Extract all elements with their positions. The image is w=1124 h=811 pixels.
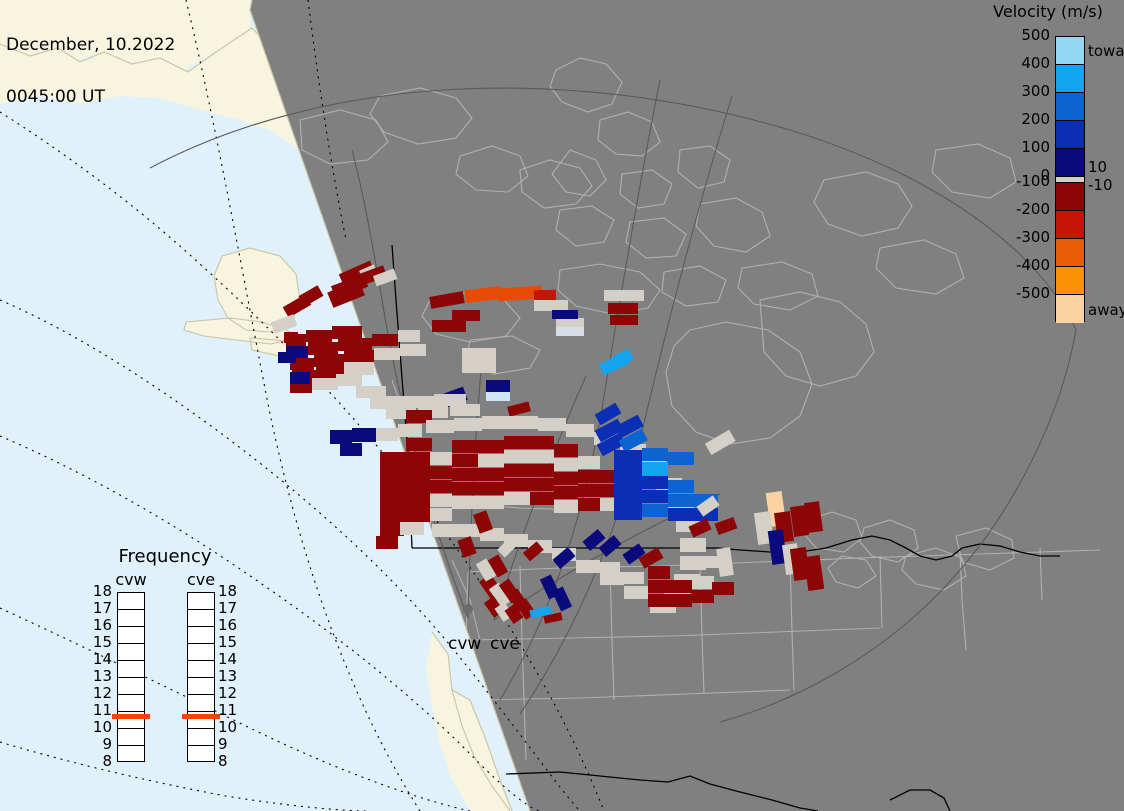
- colorbar-tick: -300: [1016, 230, 1050, 245]
- frequency-title: Frequency: [80, 546, 250, 567]
- frequency-scale-segment: [188, 678, 214, 695]
- frequency-scale-segment: [188, 627, 214, 644]
- colorbar-band: [1056, 295, 1084, 323]
- frequency-scale-segment: [188, 610, 214, 627]
- frequency-scale-segment: [118, 610, 144, 627]
- frequency-scale-segment: [118, 661, 144, 678]
- frequency-axis-tick: 18: [80, 584, 112, 599]
- map-label-cvw: cvw: [448, 634, 481, 654]
- colorbar-band: [1056, 37, 1084, 65]
- frequency-scale-segment: [118, 593, 144, 610]
- colorbar-tick-labels: 5004003002001000-100-200-300-400-500: [970, 0, 1050, 340]
- frequency-axis-tick: 15: [218, 635, 237, 650]
- frequency-axis-tick: 8: [218, 754, 228, 769]
- frequency-axis-tick: 16: [218, 618, 237, 633]
- frequency-scale-segment: [118, 695, 144, 712]
- colorbar-negative-threshold: -10: [1088, 178, 1113, 193]
- frequency-scale-segment: [188, 695, 214, 712]
- colorbar-band: [1056, 93, 1084, 121]
- colorbar-tick: -500: [1016, 286, 1050, 301]
- colorbar-band: [1056, 267, 1084, 295]
- colorbar-band: [1056, 121, 1084, 149]
- colorbar-tick: -400: [1016, 258, 1050, 273]
- frequency-axis-tick: 17: [80, 601, 112, 616]
- radar-site-marker: [463, 604, 473, 614]
- frequency-scale-segment: [188, 729, 214, 746]
- velocity-colorbar: Velocity (m/s) 5004003002001000-100-200-…: [970, 0, 1124, 340]
- frequency-scale-segment: [188, 593, 214, 610]
- frequency-axis-tick: 11: [80, 703, 112, 718]
- colorbar-tick: 200: [1021, 112, 1050, 127]
- frequency-scale-segment: [118, 644, 144, 661]
- frequency-bar-cve: [187, 592, 215, 762]
- frequency-axis-tick: 13: [80, 669, 112, 684]
- frequency-axis-tick: 18: [218, 584, 237, 599]
- map-label-cve: cve: [490, 634, 520, 654]
- colorbar-positive-threshold: 10: [1088, 160, 1107, 175]
- title-time: 0045:00 UT: [6, 89, 175, 106]
- radar-velocity-map: December, 10.2022 0045:00 UT cvw cve Vel…: [0, 0, 1124, 811]
- frequency-axis-tick: 12: [80, 686, 112, 701]
- frequency-axis-tick: 13: [218, 669, 237, 684]
- frequency-scale-segment: [188, 746, 214, 763]
- frequency-axis-tick: 16: [80, 618, 112, 633]
- colorbar-tick: -200: [1016, 202, 1050, 217]
- frequency-axis-tick: 14: [218, 652, 237, 667]
- frequency-scale-segment: [118, 678, 144, 695]
- colorbar-band: [1056, 239, 1084, 267]
- colorbar-band: [1056, 149, 1084, 177]
- frequency-axis-tick: 10: [218, 720, 237, 735]
- frequency-scale-segment: [118, 746, 144, 763]
- frequency-scale-segment: [118, 627, 144, 644]
- colorbar-toward-label: toward: [1088, 44, 1124, 59]
- frequency-axis-tick: 8: [80, 754, 112, 769]
- frequency-axis-tick: 9: [218, 737, 228, 752]
- frequency-axis-tick: 10: [80, 720, 112, 735]
- frequency-axis-tick: 14: [80, 652, 112, 667]
- frequency-legend: Frequency cvw cve 18171615141312111098 1…: [80, 546, 250, 786]
- colorbar-tick: 400: [1021, 56, 1050, 71]
- frequency-axis-tick: 15: [80, 635, 112, 650]
- frequency-axis-tick: 12: [218, 686, 237, 701]
- colorbar-band: [1056, 65, 1084, 93]
- colorbar-tick: 300: [1021, 84, 1050, 99]
- title-date: December, 10.2022: [6, 37, 175, 54]
- frequency-marker-cvw: [112, 714, 150, 719]
- frequency-scale-segment: [118, 729, 144, 746]
- colorbar-band: [1056, 183, 1084, 211]
- frequency-scale-segment: [188, 661, 214, 678]
- title-block: December, 10.2022 0045:00 UT: [6, 2, 175, 141]
- colorbar-away-label: away: [1088, 303, 1124, 318]
- frequency-scale-segment: [188, 644, 214, 661]
- colorbar-bands: [1055, 36, 1085, 322]
- frequency-bar-cvw: [117, 592, 145, 762]
- frequency-axis-tick: 9: [80, 737, 112, 752]
- frequency-axis-tick: 17: [218, 601, 237, 616]
- colorbar-tick: 500: [1021, 28, 1050, 43]
- colorbar-tick: 100: [1021, 140, 1050, 155]
- frequency-axis-tick: 11: [218, 703, 237, 718]
- frequency-marker-cve: [182, 714, 220, 719]
- colorbar-band: [1056, 211, 1084, 239]
- colorbar-tick: -100: [1016, 174, 1050, 189]
